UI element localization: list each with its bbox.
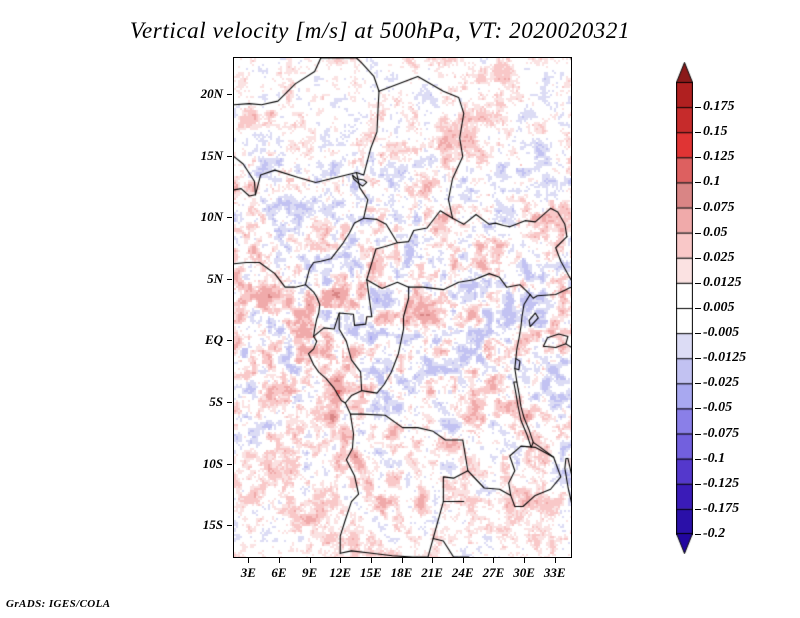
map-plot-area[interactable]	[233, 57, 572, 558]
latitude-tick	[227, 340, 232, 341]
latitude-tick	[227, 525, 232, 526]
longitude-tick	[340, 558, 341, 563]
colorbar-tick-label: -0.2	[703, 526, 725, 542]
colorbar-tick-label: 0.125	[703, 149, 735, 165]
latitude-tick	[227, 94, 232, 95]
longitude-tick-label: 3E	[241, 565, 256, 581]
colorbar-tick-label: 0.05	[703, 225, 728, 241]
longitude-tick-label: 30E	[513, 565, 535, 581]
latitude-tick-label: 10S	[165, 456, 223, 472]
colorbar-tick	[695, 459, 701, 460]
latitude-tick	[227, 217, 232, 218]
colorbar-gradient	[676, 62, 693, 554]
longitude-tick-label: 21E	[421, 565, 443, 581]
colorbar-tick	[695, 107, 701, 108]
colorbar-tick	[695, 434, 701, 435]
longitude-tick-label: 12E	[329, 565, 351, 581]
latitude-tick	[227, 279, 232, 280]
colorbar-tick-label: 0.175	[703, 99, 735, 115]
longitude-tick	[432, 558, 433, 563]
latitude-tick	[227, 464, 232, 465]
colorbar-tick-label: 0.15	[703, 124, 728, 140]
colorbar-tick-label: 0.075	[703, 200, 735, 216]
longitude-tick-label: 33E	[544, 565, 566, 581]
latitude-tick	[227, 156, 232, 157]
vertical-velocity-heatmap	[234, 58, 571, 557]
colorbar-tick	[695, 283, 701, 284]
longitude-tick	[524, 558, 525, 563]
page-title: Vertical velocity [m/s] at 500hPa, VT: 2…	[0, 18, 760, 44]
colorbar-tick	[695, 132, 701, 133]
colorbar-tick-label: -0.1	[703, 451, 725, 467]
latitude-tick-label: 15N	[165, 148, 223, 164]
longitude-tick-label: 9E	[302, 565, 317, 581]
colorbar-tick	[695, 157, 701, 158]
latitude-tick-label: 15S	[165, 517, 223, 533]
colorbar[interactable]	[676, 62, 693, 554]
longitude-tick	[310, 558, 311, 563]
latitude-tick-label: 5S	[165, 394, 223, 410]
latitude-tick-label: 20N	[165, 86, 223, 102]
colorbar-tick	[695, 534, 701, 535]
longitude-tick-label: 24E	[452, 565, 474, 581]
colorbar-tick-label: 0.025	[703, 250, 735, 266]
colorbar-tick	[695, 358, 701, 359]
longitude-tick	[402, 558, 403, 563]
colorbar-tick	[695, 308, 701, 309]
longitude-tick	[248, 558, 249, 563]
colorbar-tick	[695, 333, 701, 334]
colorbar-tick-label: 0.1	[703, 174, 721, 190]
colorbar-tick	[695, 383, 701, 384]
colorbar-tick	[695, 484, 701, 485]
colorbar-tick-label: -0.025	[703, 375, 739, 391]
colorbar-tick	[695, 509, 701, 510]
colorbar-tick	[695, 258, 701, 259]
colorbar-tick-label: -0.05	[703, 400, 732, 416]
longitude-tick	[555, 558, 556, 563]
latitude-tick-label: EQ	[165, 332, 223, 348]
longitude-tick	[463, 558, 464, 563]
latitude-tick-label: 10N	[165, 209, 223, 225]
colorbar-tick-label: -0.075	[703, 426, 739, 442]
latitude-tick	[227, 402, 232, 403]
colorbar-tick-label: -0.175	[703, 501, 739, 517]
colorbar-tick-label: 0.005	[703, 300, 735, 316]
longitude-tick	[279, 558, 280, 563]
longitude-tick-label: 6E	[271, 565, 286, 581]
colorbar-tick	[695, 233, 701, 234]
longitude-tick-label: 18E	[391, 565, 413, 581]
longitude-tick-label: 15E	[360, 565, 382, 581]
longitude-tick	[371, 558, 372, 563]
colorbar-tick-label: -0.0125	[703, 350, 746, 366]
colorbar-tick	[695, 208, 701, 209]
colorbar-tick	[695, 408, 701, 409]
colorbar-tick-label: -0.005	[703, 325, 739, 341]
longitude-tick-label: 27E	[483, 565, 505, 581]
colorbar-tick	[695, 182, 701, 183]
colorbar-tick-label: 0.0125	[703, 275, 742, 291]
longitude-tick	[493, 558, 494, 563]
latitude-tick-label: 5N	[165, 271, 223, 287]
colorbar-tick-label: -0.125	[703, 476, 739, 492]
grads-attribution: GrADS: IGES/COLA	[6, 598, 111, 610]
